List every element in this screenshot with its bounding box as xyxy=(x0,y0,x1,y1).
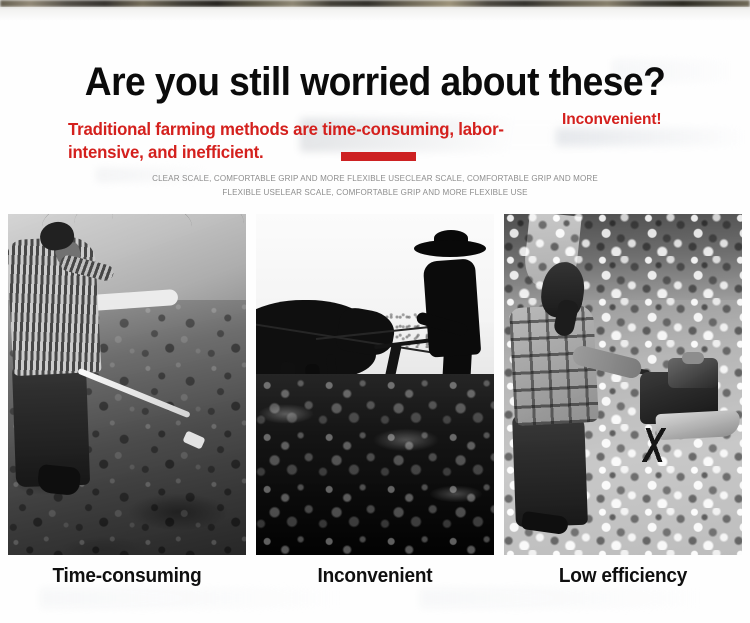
top-photo-strip xyxy=(0,0,750,7)
farmer-striped-shirt xyxy=(8,236,101,376)
panel-label-time-consuming: Time-consuming xyxy=(14,563,240,589)
soil-clods-texture xyxy=(256,374,494,555)
photo-panel-inconvenient xyxy=(256,214,494,555)
inconvenient-badge: Inconvenient! xyxy=(562,110,661,130)
photo-panel-time-consuming xyxy=(8,214,246,555)
background-watermark xyxy=(556,128,746,146)
plowman-body xyxy=(423,258,482,357)
greenhouse-hoop-icon xyxy=(148,214,246,259)
panel-label-low-efficiency: Low efficiency xyxy=(510,563,736,589)
caption-line-1: CLEAR SCALE, COMFORTABLE GRIP AND MORE F… xyxy=(15,172,735,186)
operator-pants xyxy=(512,413,588,527)
panel-label-row: Time-consuming Inconvenient Low efficien… xyxy=(0,563,750,597)
caption-line-2: FLEXIBLE USELEAR SCALE, COMFORTABLE GRIP… xyxy=(15,186,735,200)
photo-panel-row xyxy=(0,214,750,555)
top-fade-overlay xyxy=(0,7,750,21)
red-divider-bar xyxy=(341,152,416,161)
straw-hat-brim xyxy=(414,240,486,257)
page-title: Are you still worried about these? xyxy=(26,60,724,104)
subtitle-text: Traditional farming methods are time-con… xyxy=(68,118,538,164)
photo-panel-low-efficiency xyxy=(504,214,742,555)
tiller-tines xyxy=(632,428,676,462)
promo-banner: Are you still worried about these? Tradi… xyxy=(0,0,750,623)
caption-block: CLEAR SCALE, COMFORTABLE GRIP AND MORE F… xyxy=(0,172,750,199)
tiller-fuel-cap xyxy=(682,352,704,364)
panel-label-inconvenient: Inconvenient xyxy=(262,563,488,589)
